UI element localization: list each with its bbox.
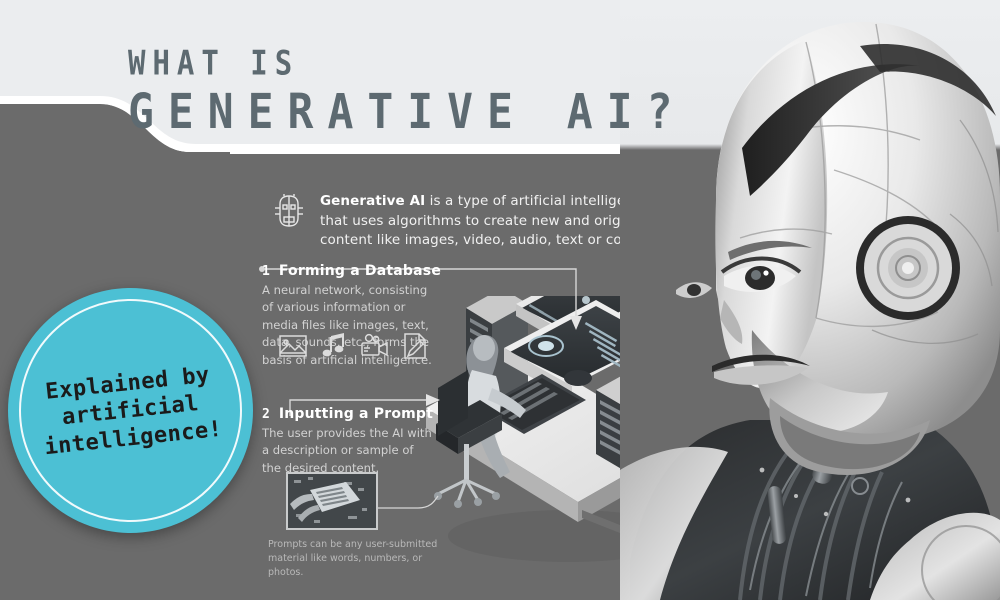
music-note-icon <box>320 332 348 360</box>
document-pencil-icon <box>402 332 428 360</box>
robot-ear-disc <box>856 216 960 320</box>
step-1-media-icons <box>278 332 428 360</box>
step-2-caption: Prompts can be any user-submitted materi… <box>268 538 448 579</box>
mouse <box>564 370 592 386</box>
video-camera-icon <box>360 333 390 359</box>
status-badge[interactable]: Explained by artificial intelligence! <box>8 288 253 533</box>
image-icon <box>278 333 308 359</box>
robot-head-icon <box>272 194 306 234</box>
step-2: 2 Inputting a Prompt The user provides t… <box>262 406 434 477</box>
step-1-number: 1 <box>262 264 270 279</box>
keyboard-photo-svg <box>288 474 376 528</box>
title-line-1: WHAT IS <box>128 46 686 80</box>
step-2-header: 2 Inputting a Prompt <box>262 406 434 422</box>
step-1-title: Forming a Database <box>279 263 441 279</box>
step-2-title: Inputting a Prompt <box>279 406 433 422</box>
title-line-2: GENERATIVE AI? <box>128 89 686 137</box>
step-1-header: 1 Forming a Database <box>262 263 441 279</box>
step-2-number: 2 <box>262 407 270 422</box>
page-title: WHAT IS GENERATIVE AI? <box>128 46 686 132</box>
intro-lead: Generative AI <box>320 193 425 209</box>
infographic-canvas: Generative AI is a type of artificial in… <box>0 0 1000 600</box>
keyboard-circuit-photo <box>286 472 378 530</box>
step-2-body: The user provides the AI with a descript… <box>262 425 434 477</box>
